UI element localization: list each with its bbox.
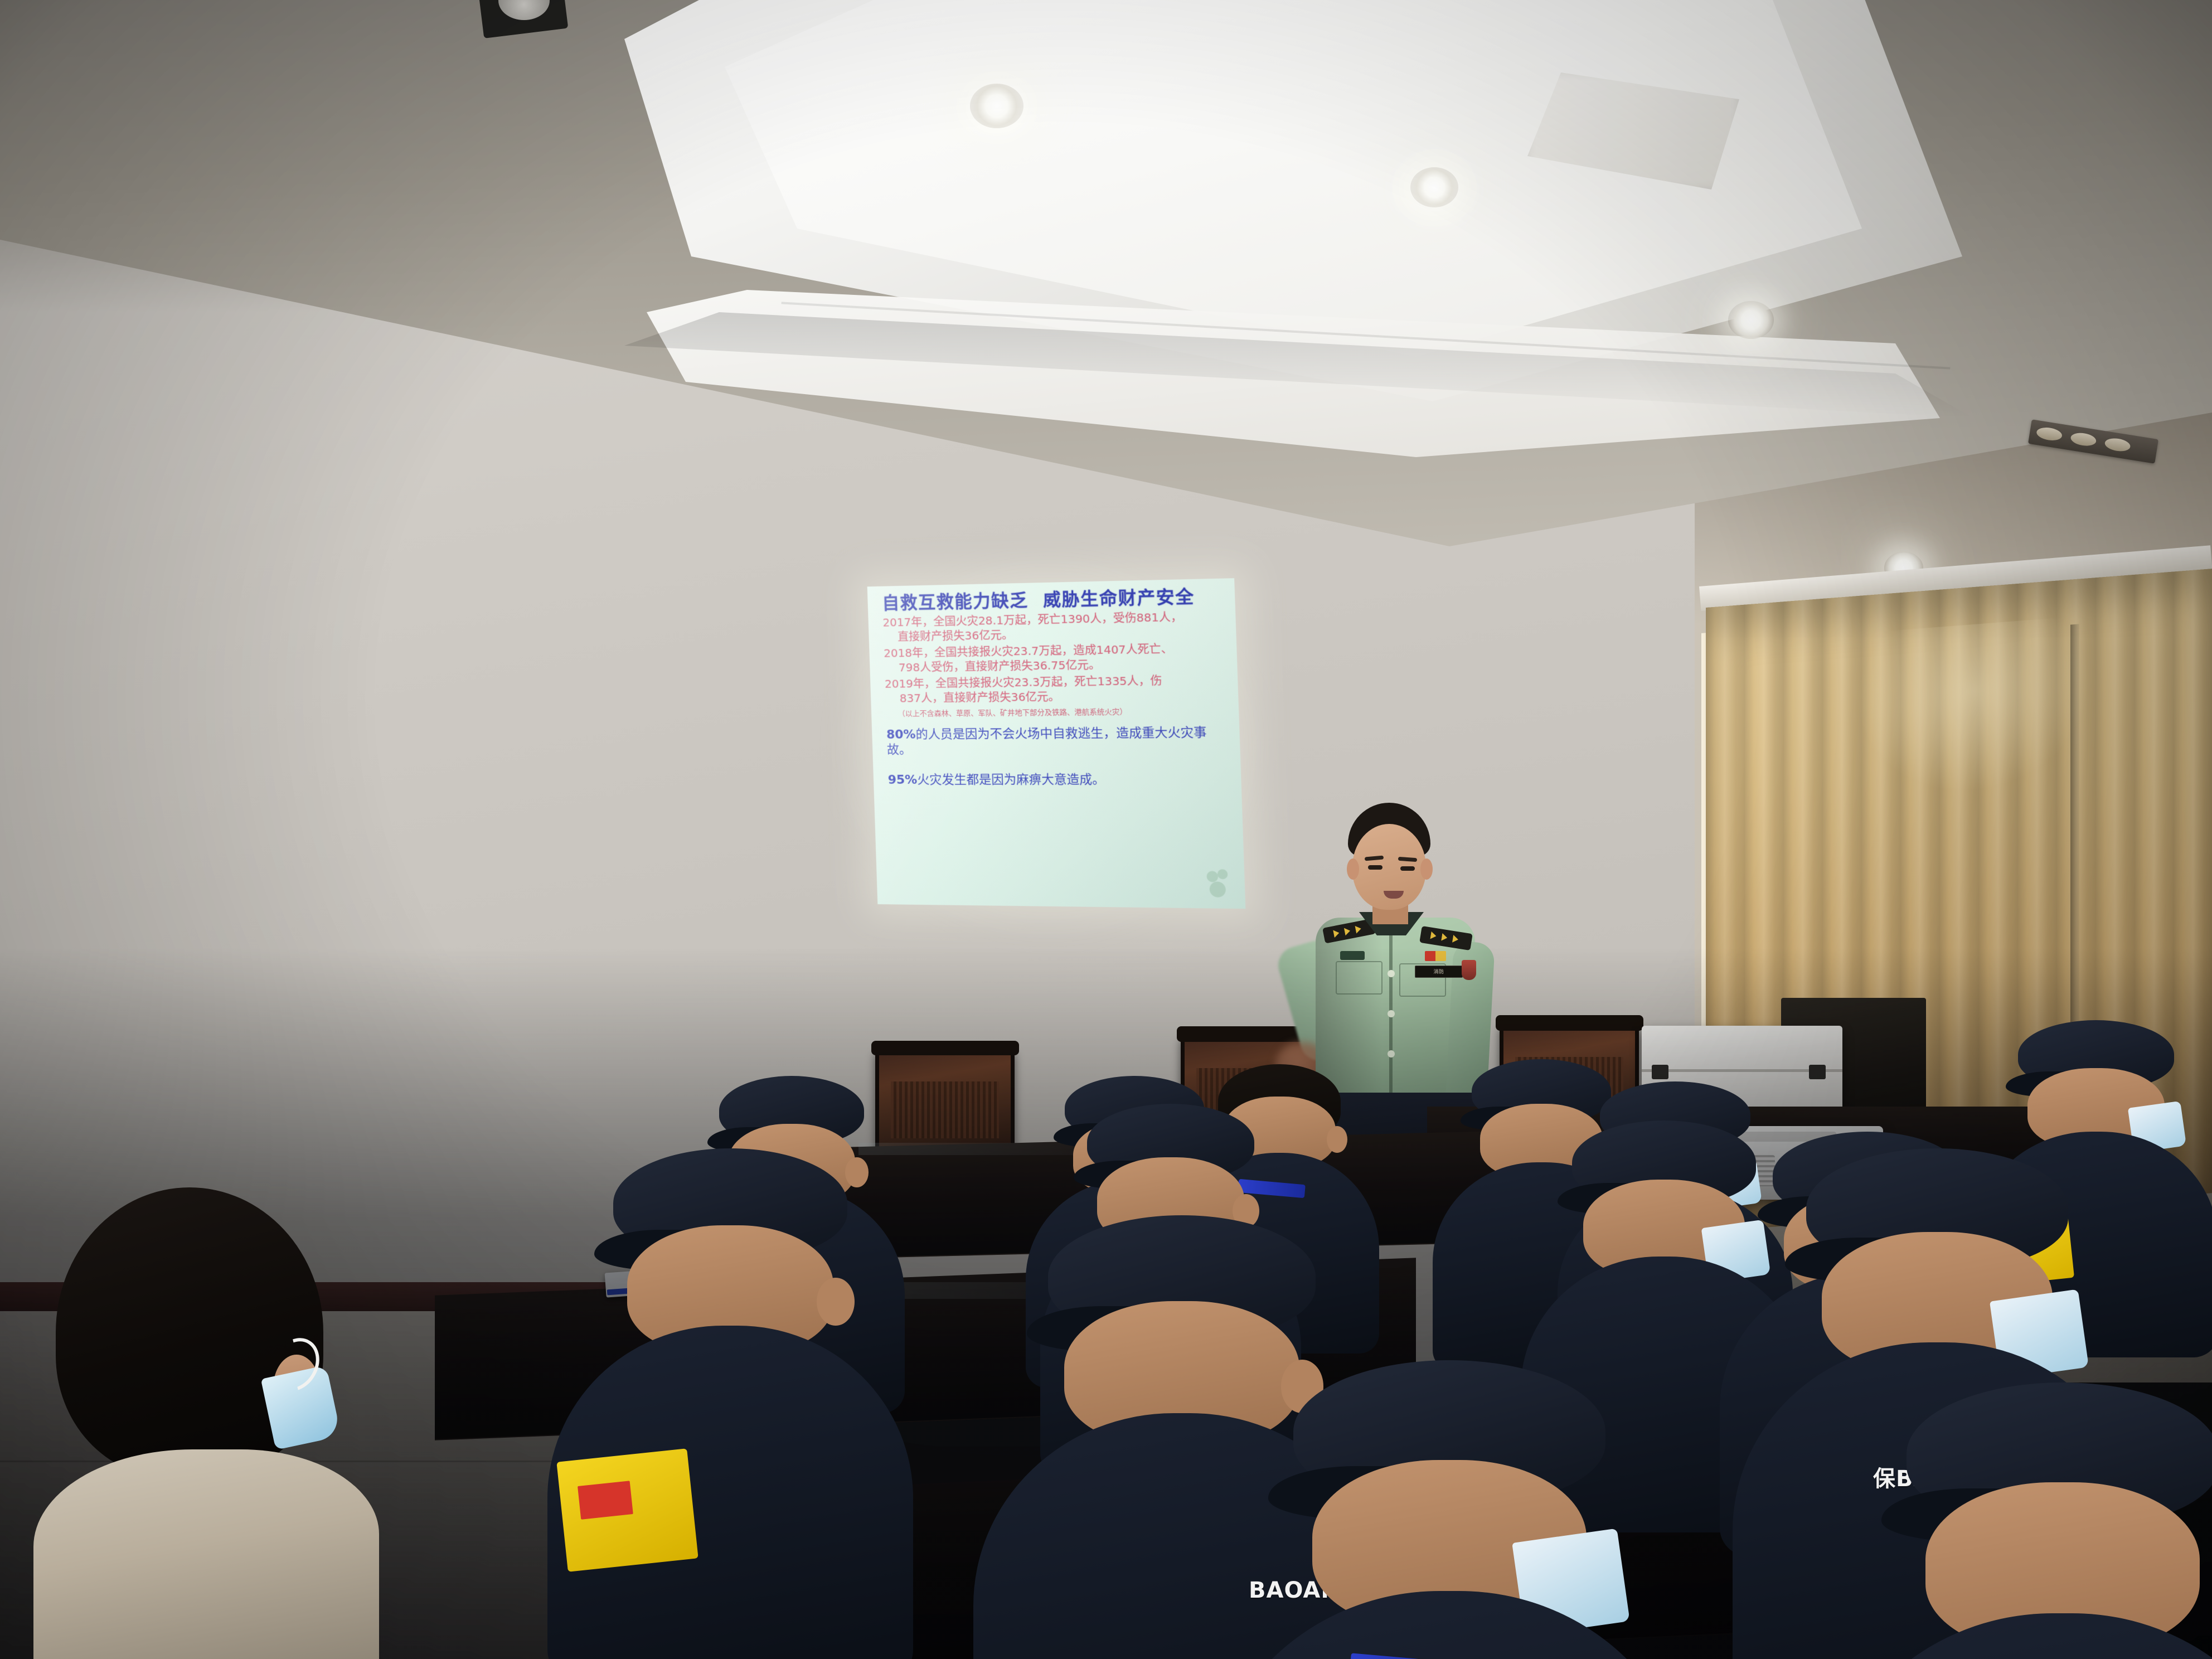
presenter-shoulder-patch-icon [1462, 960, 1476, 980]
chair-top-rail [871, 1041, 1019, 1056]
presenter-shirt-button [1388, 1050, 1395, 1058]
slide-stat-line: 2018年，全国共接报火灾23.7万起，造成1407人死亡、 798人受伤，直接… [884, 640, 1225, 675]
chair-back [875, 1048, 1015, 1154]
slide-title-left: 自救互救能力缺乏 [882, 590, 1029, 614]
slide-stat-line: 2017年，全国火灾28.1万起，死亡1390人，受伤881人， 直接财产损失3… [882, 608, 1224, 644]
attendee-foreground [613, 1148, 847, 1388]
attendee-ear [817, 1278, 854, 1326]
slide-callout-80-text: 的人员是因为不会火场中自救逃生，造成重大火灾事故。 [887, 725, 1207, 757]
slide-callout-80-value: 80% [886, 727, 916, 741]
ceiling-downlight-icon [1728, 301, 1774, 339]
slide-callout-95-value: 95% [887, 773, 917, 787]
slide-callout-95: 95%火灾发生都是因为麻痹大意造成。 [887, 772, 1229, 788]
slide-title-right: 威胁生命财产安全 [1042, 586, 1195, 610]
curtain-light-glow [1856, 615, 2090, 801]
slide-watermark-icon [1202, 868, 1236, 903]
slide-footnote: （以上不含森林、草原、军队、矿井地下部分及铁路、港航系统火灾） [886, 707, 1227, 720]
slide-callout-95-text: 火灾发生都是因为麻痹大意造成。 [917, 773, 1105, 787]
slide-callout-80: 80%的人员是因为不会火场中自救逃生，造成重大火灾事故。 [886, 725, 1229, 758]
chair-slats [891, 1081, 999, 1138]
chair [875, 1048, 1015, 1154]
presenter-nametag-text: 消防 [1415, 966, 1462, 977]
attendee-ear [845, 1157, 869, 1187]
attendee-foreground [1293, 1360, 1605, 1659]
case-latch-icon [1652, 1065, 1668, 1079]
presenter-shirt-button [1388, 1010, 1395, 1017]
case-latch-icon [1809, 1065, 1826, 1079]
foreground-person [33, 1187, 379, 1659]
attendee-foreground: 保BAOAN安 [1806, 1148, 2068, 1410]
chair-top-rail [1496, 1015, 1643, 1030]
presenter-chest-emblem-icon [1340, 951, 1365, 960]
presenter-ear [1347, 858, 1359, 880]
presenter-eye [1368, 865, 1382, 870]
attendee [1572, 1120, 1756, 1304]
foreground-person-shirt [33, 1449, 379, 1659]
attendee-foreground: BAOAN安 [1048, 1215, 1316, 1483]
presenter-rank-badge-icon [1425, 951, 1446, 961]
ceiling-downlight-icon [1410, 167, 1458, 207]
projected-slide: 自救互救能力缺乏威胁生命财产安全 2017年，全国火灾28.1万起，死亡1390… [867, 578, 1246, 909]
armband-insignia-icon [578, 1481, 633, 1520]
presenter-ear [1420, 858, 1433, 880]
slide-stat-main: 2019年，全国共接报火灾23.3万起，死亡1335人，伤 [885, 673, 1162, 690]
attendee-armband [556, 1449, 698, 1572]
presenter-shirt-button [1388, 970, 1395, 977]
presenter-shirt-placket [1389, 934, 1393, 1102]
presenter-chest-pocket [1336, 961, 1382, 995]
presenter-nametag: 消防 [1415, 966, 1463, 978]
attendee-foreground [1907, 1382, 2212, 1659]
ceiling-downlight-icon [970, 84, 1023, 128]
lecture-room-photo: 自救互救能力缺乏威胁生命财产安全 2017年，全国火灾28.1万起，死亡1390… [0, 0, 2212, 1659]
slide-stat-line: 2019年，全国共接报火灾23.3万起，死亡1335人，伤 837人，直接财产损… [885, 672, 1227, 706]
attendee-ear [1327, 1126, 1347, 1153]
presenter-eye [1400, 866, 1415, 871]
